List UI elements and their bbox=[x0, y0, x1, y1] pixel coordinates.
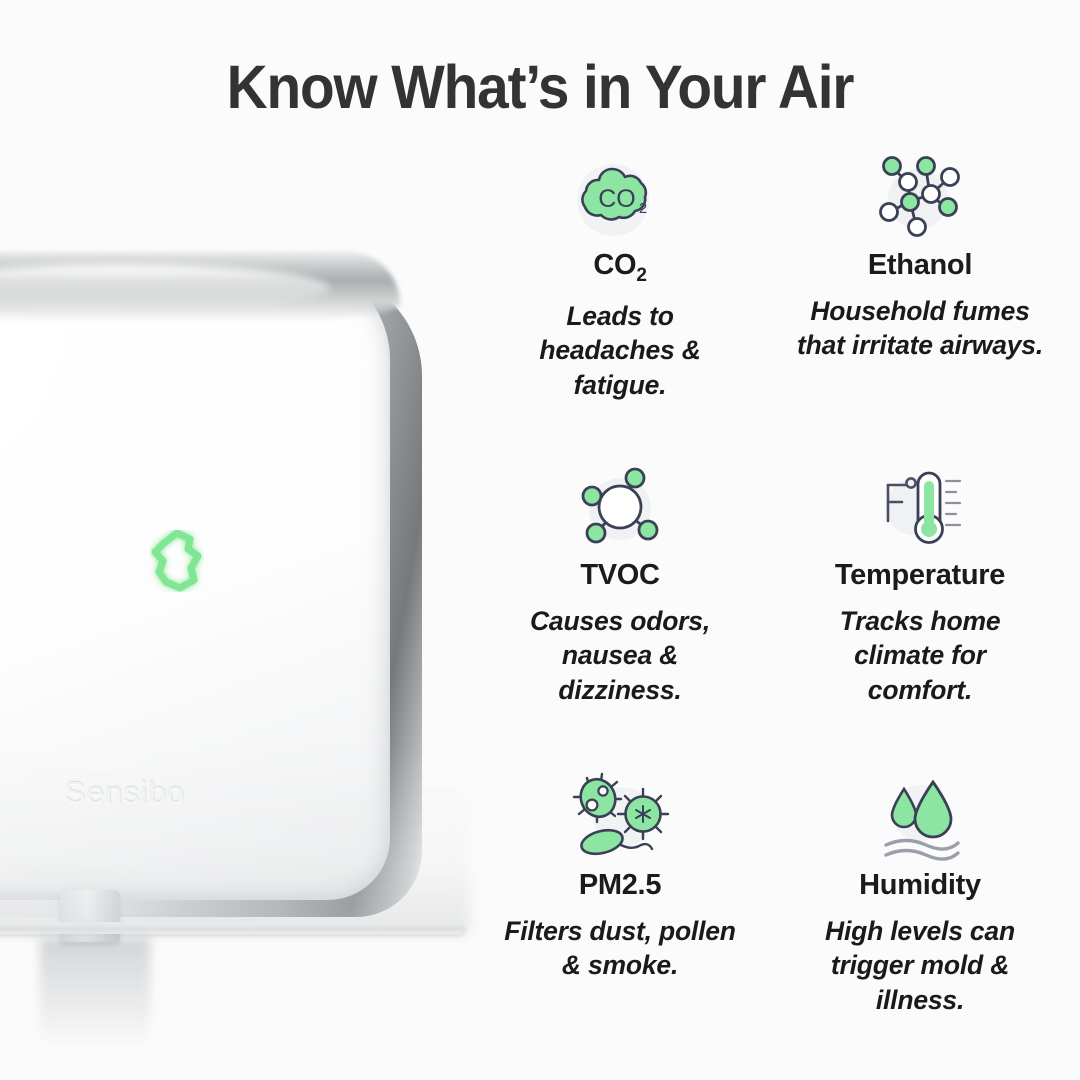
sensibo-logo-led-icon bbox=[150, 530, 204, 592]
page-title: Know What’s in Your Air bbox=[38, 52, 1042, 122]
sensor-name: Ethanol bbox=[868, 249, 972, 282]
water-droplets-icon bbox=[870, 765, 970, 865]
sensor-description: High levels can trigger mold & illness. bbox=[798, 914, 1043, 1017]
svg-text:CO: CO bbox=[598, 185, 636, 213]
sensor-name: TVOC bbox=[580, 559, 659, 592]
sensor-card-co2: CO 2 CO2 Leads to headaches & fatigue. bbox=[470, 145, 770, 455]
sensor-description: Filters dust, pollen & smoke. bbox=[495, 914, 745, 983]
sensor-name: CO2 bbox=[593, 249, 646, 287]
sensor-description: Causes odors, nausea & dizziness. bbox=[505, 604, 735, 707]
sensor-name: Humidity bbox=[859, 869, 981, 902]
svg-text:2: 2 bbox=[639, 200, 647, 217]
sensor-description: Household fumes that irritate airways. bbox=[785, 294, 1055, 363]
ethanol-molecule-icon bbox=[870, 145, 970, 245]
sensor-card-humidity: Humidity High levels can trigger mold & … bbox=[770, 765, 1070, 1075]
device-reflection bbox=[0, 684, 470, 934]
tvoc-molecule-icon bbox=[570, 455, 670, 555]
marketing-graphic: Know What’s in Your Air Sensibo bbox=[0, 0, 1080, 1080]
sensor-name: Temperature bbox=[835, 559, 1005, 592]
device-foot-reflection bbox=[40, 938, 150, 1048]
sensor-description: Leads to headaches & fatigue. bbox=[513, 299, 728, 402]
microbes-particles-icon bbox=[567, 765, 673, 865]
sensor-card-tvoc: TVOC Causes odors, nausea & dizziness. bbox=[470, 455, 770, 765]
sensor-card-pm25: PM2.5 Filters dust, pollen & smoke. bbox=[470, 765, 770, 1075]
sensor-card-temperature: Temperature Tracks home climate for comf… bbox=[770, 455, 1070, 765]
sensor-description: Tracks home climate for comfort. bbox=[808, 604, 1033, 707]
sensor-card-ethanol: Ethanol Household fumes that irritate ai… bbox=[770, 145, 1070, 455]
co2-cloud-icon: CO 2 bbox=[567, 145, 673, 245]
product-photo-air-quality-sensor: Sensibo bbox=[0, 250, 480, 950]
sensor-name: PM2.5 bbox=[579, 869, 661, 902]
thermometer-fahrenheit-icon bbox=[868, 455, 972, 555]
sensor-feature-grid: CO 2 CO2 Leads to headaches & fatigue. bbox=[470, 145, 1070, 1055]
